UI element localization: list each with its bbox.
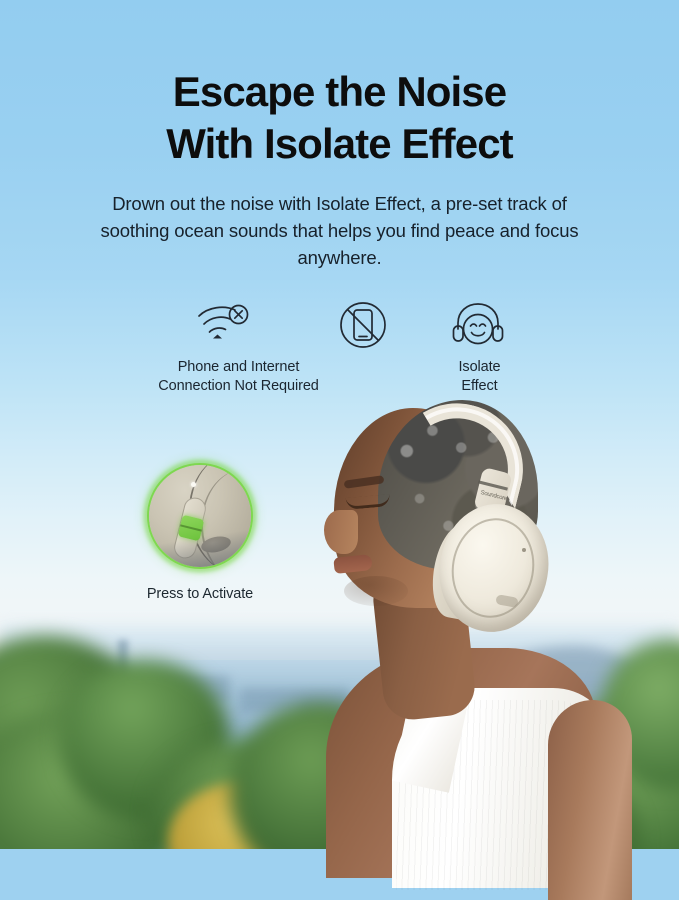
callout-label: Press to Activate [140, 586, 260, 602]
nose [324, 510, 358, 554]
press-to-activate-callout: Press to Activate [140, 460, 260, 602]
subtitle: Drown out the noise with Isolate Effect,… [91, 190, 589, 271]
headline-line-2: With Isolate Effect [166, 120, 513, 167]
feature-isolate-effect: Isolate Effect [418, 298, 538, 396]
feature-no-phone [308, 298, 418, 358]
headphone-button-closeup [149, 465, 251, 567]
feature-label: Phone and Internet Connection Not Requir… [156, 358, 322, 396]
person-wearing-headphones: Soundcore [300, 400, 600, 860]
chin-shadow [344, 576, 408, 606]
headline-line-1: Escape the Noise [173, 68, 506, 115]
feature-label: Isolate Effect [420, 358, 540, 396]
headphone-mic-dot [522, 548, 526, 552]
led-indicator [191, 482, 196, 487]
feature-no-connection: Phone and Internet Connection Not Requir… [142, 298, 308, 396]
button-closeup-bubble [144, 460, 256, 572]
arm [548, 700, 632, 900]
page-title: Escape the Noise With Isolate Effect [0, 66, 679, 170]
headphones-smiley-icon [418, 298, 538, 352]
feature-icon-row: Phone and Internet Connection Not Requir… [0, 298, 679, 396]
no-phone-icon [308, 298, 418, 352]
marketing-copy: Escape the Noise With Isolate Effect Dro… [0, 0, 679, 396]
wifi-off-icon [142, 298, 308, 352]
